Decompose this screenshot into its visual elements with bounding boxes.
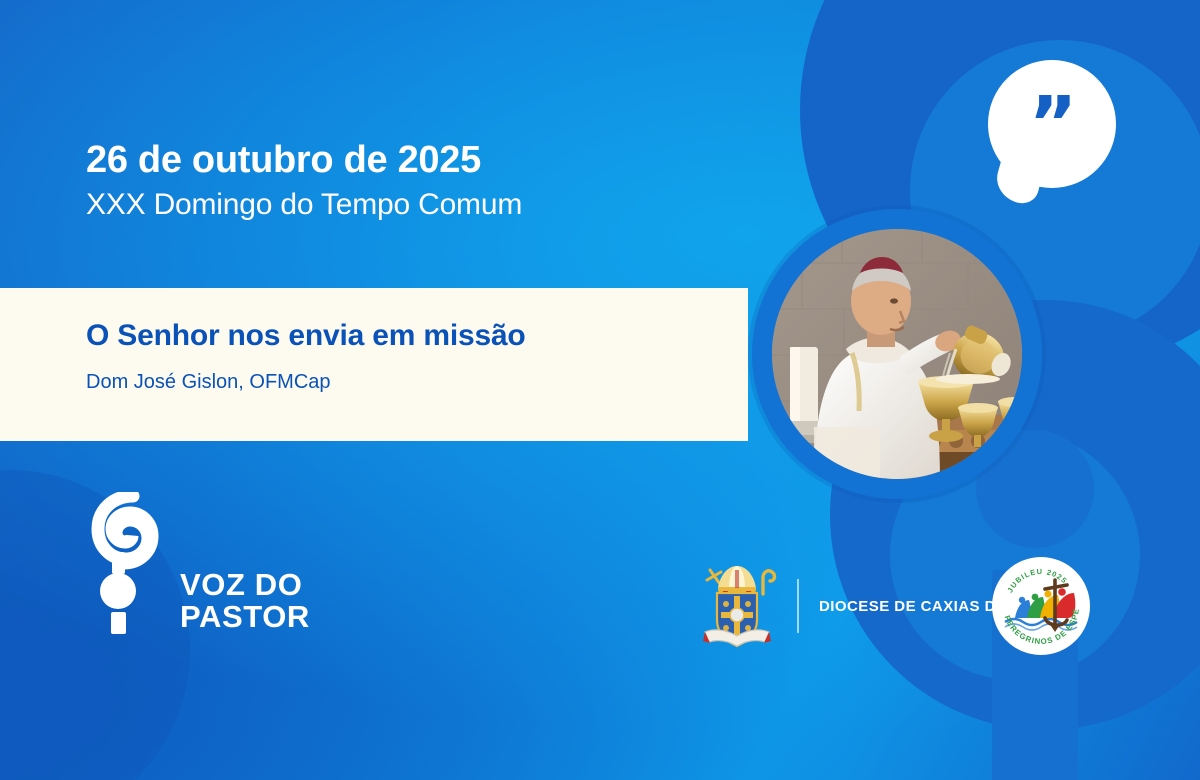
- jubilee-2025-seal-icon: JUBILEU 2025 PEREGRINOS DE ESPERANÇA: [991, 556, 1091, 656]
- brand-line-2: PASTOR: [180, 601, 310, 634]
- quote-marks: ”: [988, 87, 1116, 161]
- divider: [797, 579, 799, 633]
- photo-ring: [752, 209, 1042, 499]
- publication-date: 26 de outubro de 2025: [86, 138, 522, 183]
- crosier-icon: [86, 492, 172, 640]
- homily-title: O Senhor nos envia em missão: [86, 318, 526, 354]
- header-block: 26 de outubro de 2025 XXX Domingo do Tem…: [86, 138, 522, 223]
- voz-do-pastor-logo: VOZ DO PASTOR: [86, 492, 310, 640]
- liturgical-day: XXX Domingo do Tempo Comum: [86, 186, 522, 224]
- voz-do-pastor-card: ” 26 de outubro de 2025 XXX Domingo do T…: [0, 0, 1200, 780]
- homily-author: Dom José Gislon, OFMCap: [86, 370, 526, 394]
- voz-do-pastor-wordmark: VOZ DO PASTOR: [180, 569, 310, 634]
- bishop-celebrating-mass-photo: [772, 229, 1022, 479]
- title-banner: O Senhor nos envia em missão Dom José Gi…: [0, 288, 748, 441]
- brand-line-1: VOZ DO: [180, 569, 310, 602]
- diocese-coat-of-arms-icon: [697, 560, 777, 652]
- title-banner-content: O Senhor nos envia em missão Dom José Gi…: [86, 318, 526, 394]
- quote-bubble-icon: ”: [988, 60, 1116, 188]
